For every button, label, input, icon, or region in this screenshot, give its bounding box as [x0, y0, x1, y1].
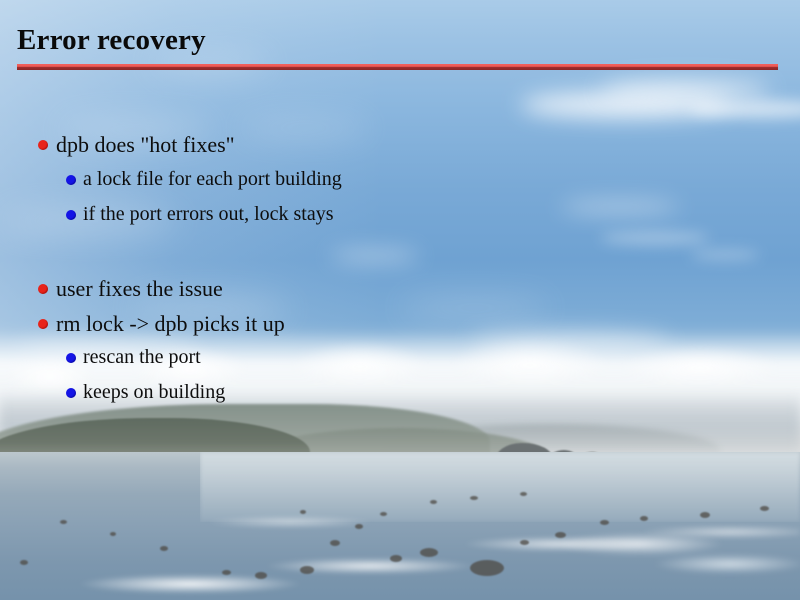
bullet-item: a lock file for each port building [66, 168, 342, 191]
bullet-text: keeps on building [83, 381, 225, 404]
bullet-item: user fixes the issue [38, 276, 223, 302]
bullet-item: dpb does "hot fixes" [38, 132, 235, 158]
blue-dot-icon [66, 210, 76, 220]
bullet-text: rm lock -> dpb picks it up [56, 311, 285, 337]
red-dot-icon [38, 140, 48, 150]
presentation-slide: Error recovery dpb does "hot fixes"a loc… [0, 0, 800, 600]
red-dot-icon [38, 284, 48, 294]
bullet-item: keeps on building [66, 381, 225, 404]
bullet-item: rescan the port [66, 346, 201, 369]
blue-dot-icon [66, 388, 76, 398]
blue-dot-icon [66, 353, 76, 363]
bullet-text: dpb does "hot fixes" [56, 132, 235, 158]
bullet-text: a lock file for each port building [83, 168, 342, 191]
bullet-text: rescan the port [83, 346, 201, 369]
bullet-item: if the port errors out, lock stays [66, 203, 334, 226]
bullet-list: dpb does "hot fixes"a lock file for each… [0, 0, 800, 600]
bullet-text: user fixes the issue [56, 276, 223, 302]
red-dot-icon [38, 319, 48, 329]
blue-dot-icon [66, 175, 76, 185]
bullet-item: rm lock -> dpb picks it up [38, 311, 285, 337]
bullet-text: if the port errors out, lock stays [83, 203, 334, 226]
